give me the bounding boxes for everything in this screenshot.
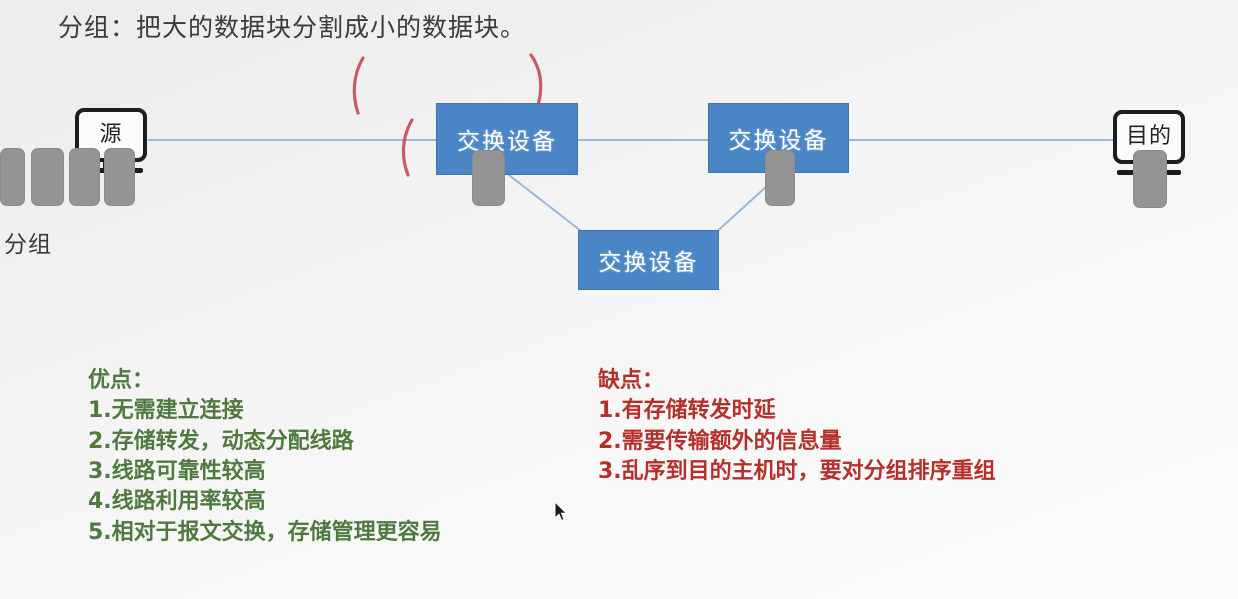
slide-canvas: 分组：把大的数据块分割成小的数据块。 源 目的 (0, 0, 1238, 599)
packet-block (31, 148, 64, 206)
source-label: 源 (99, 124, 122, 146)
cons-list: 缺点： 1.有存储转发时延 2.需要传输额外的信息量 3.乱序到目的主机时，要对… (598, 366, 996, 487)
cons-heading: 缺点： (598, 366, 996, 396)
packet-block-at-destination (1133, 150, 1167, 208)
annotation-paren-left-lower (403, 120, 412, 175)
packet-block (104, 148, 135, 206)
packet-block-at-switch2 (765, 150, 795, 206)
pros-list: 优点： 1.无需建立连接 2.存储转发，动态分配线路 3.线路可靠性较高 4.线… (88, 366, 442, 548)
packet-block-at-switch1 (472, 150, 505, 206)
mouse-cursor-icon (554, 501, 568, 522)
switch-node-3[interactable]: 交换设备 (578, 230, 719, 290)
pros-item: 1.无需建立连接 (88, 396, 442, 426)
destination-label: 目的 (1126, 126, 1172, 148)
pros-item: 4.线路利用率较高 (88, 487, 442, 517)
pros-item: 5.相对于报文交换，存储管理更容易 (88, 518, 442, 548)
cons-item: 1.有存储转发时延 (598, 396, 996, 426)
packet-block (69, 148, 100, 206)
pros-item: 2.存储转发，动态分配线路 (88, 427, 442, 457)
packet-block (0, 148, 25, 206)
switch-node-1[interactable]: 交换设备 (436, 103, 578, 175)
packet-group-label: 分组 (4, 225, 52, 259)
annotation-paren-left-upper (354, 58, 363, 113)
cons-item: 2.需要传输额外的信息量 (598, 427, 996, 457)
link-switch1-switch3 (500, 168, 590, 238)
cons-item: 3.乱序到目的主机时，要对分组排序重组 (598, 457, 996, 487)
pros-heading: 优点： (88, 366, 442, 396)
pros-item: 3.线路可靠性较高 (88, 457, 442, 487)
